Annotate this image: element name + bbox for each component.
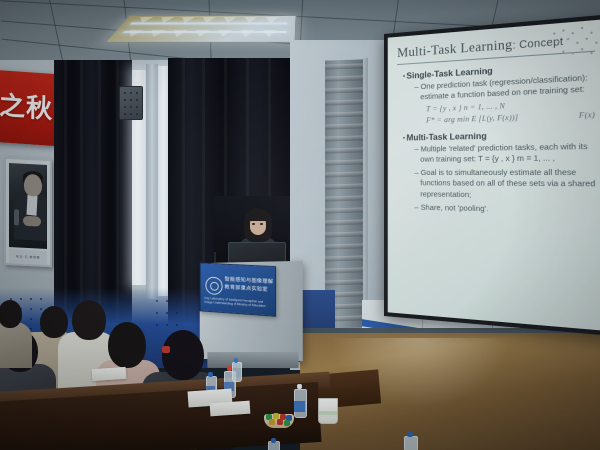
podium-sign-chinese: 智能感知与图像理解 教育部重点实验室 — [225, 277, 274, 295]
water-bottle-4 — [232, 358, 240, 380]
lecture-hall-photo: 之秋 纪念·王·教授展 — [0, 0, 600, 450]
portrait-caption: 纪念·王·教授展 — [9, 249, 47, 265]
candy — [277, 419, 283, 425]
ceiling-light-fixture — [105, 15, 296, 42]
slide-formula-3: F(x) — [579, 109, 595, 120]
candy — [284, 420, 290, 426]
handout-paper-3 — [92, 367, 127, 381]
lab-emblem-icon — [205, 276, 222, 295]
portrait-photo — [9, 163, 47, 249]
framed-portrait: 纪念·王·教授展 — [4, 157, 52, 268]
hair-clip-icon — [162, 346, 170, 353]
slide-bullet-7: representation; — [420, 189, 600, 201]
projection-screen-frame: Multi-Task Learning: Concept Single-Task… — [384, 13, 600, 337]
slide-bullet-6: functions based on all of these sets via… — [420, 178, 600, 189]
podium-base — [207, 352, 298, 368]
water-bottle-6 — [268, 438, 278, 450]
candy-bowl — [264, 414, 294, 428]
podium-lab-sign: 智能感知与图像理解 教育部重点实验室 Key Laboratory of Int… — [200, 262, 276, 316]
water-bottle-5 — [404, 432, 416, 450]
audience-person-far-left — [0, 300, 28, 360]
slide-bullet-4: own training set: T = {y , x } m = 1, ..… — [420, 153, 600, 165]
slide-bullet-8: Share, not 'pooling'. — [414, 203, 600, 217]
wall-speaker-icon — [119, 86, 143, 120]
slide-heading-multi-task: Multi-Task Learning — [403, 127, 600, 142]
slide-bullet-3: Multiple 'related' prediction tasks, eac… — [414, 141, 600, 154]
head — [108, 322, 146, 368]
banner-text: 之秋 — [0, 93, 56, 123]
water-bottle-3 — [294, 384, 305, 416]
slide-decorative-dots — [551, 23, 600, 61]
torso — [0, 322, 32, 368]
candy — [269, 419, 275, 425]
projected-slide: Multi-Task Learning: Concept Single-Task… — [388, 18, 600, 332]
paper-cup — [318, 398, 338, 424]
slide-formula-2: F* = arg min E [L(y, F(x))] — [426, 112, 518, 125]
head — [162, 330, 204, 380]
slide-bullet-5: Goal is to simultaneously estimate all t… — [414, 167, 600, 178]
podium-sign-english: Key Laboratory of Intelligent Perception… — [204, 296, 275, 310]
window-mullion — [146, 64, 158, 299]
red-banner: 之秋 — [0, 70, 56, 146]
handout-paper-2 — [210, 401, 251, 417]
head — [0, 300, 22, 328]
